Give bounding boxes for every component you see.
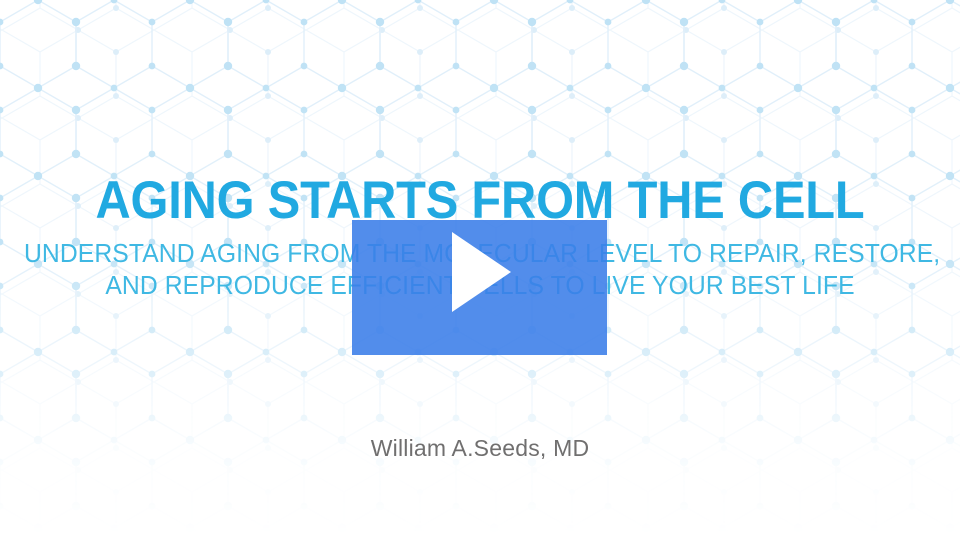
play-button[interactable] xyxy=(352,220,607,355)
play-triangle-icon xyxy=(452,232,511,312)
video-slide: AGING STARTS FROM THE CELL UNDERSTAND AG… xyxy=(0,0,960,540)
author-name: William A.Seeds, MD xyxy=(0,433,960,463)
